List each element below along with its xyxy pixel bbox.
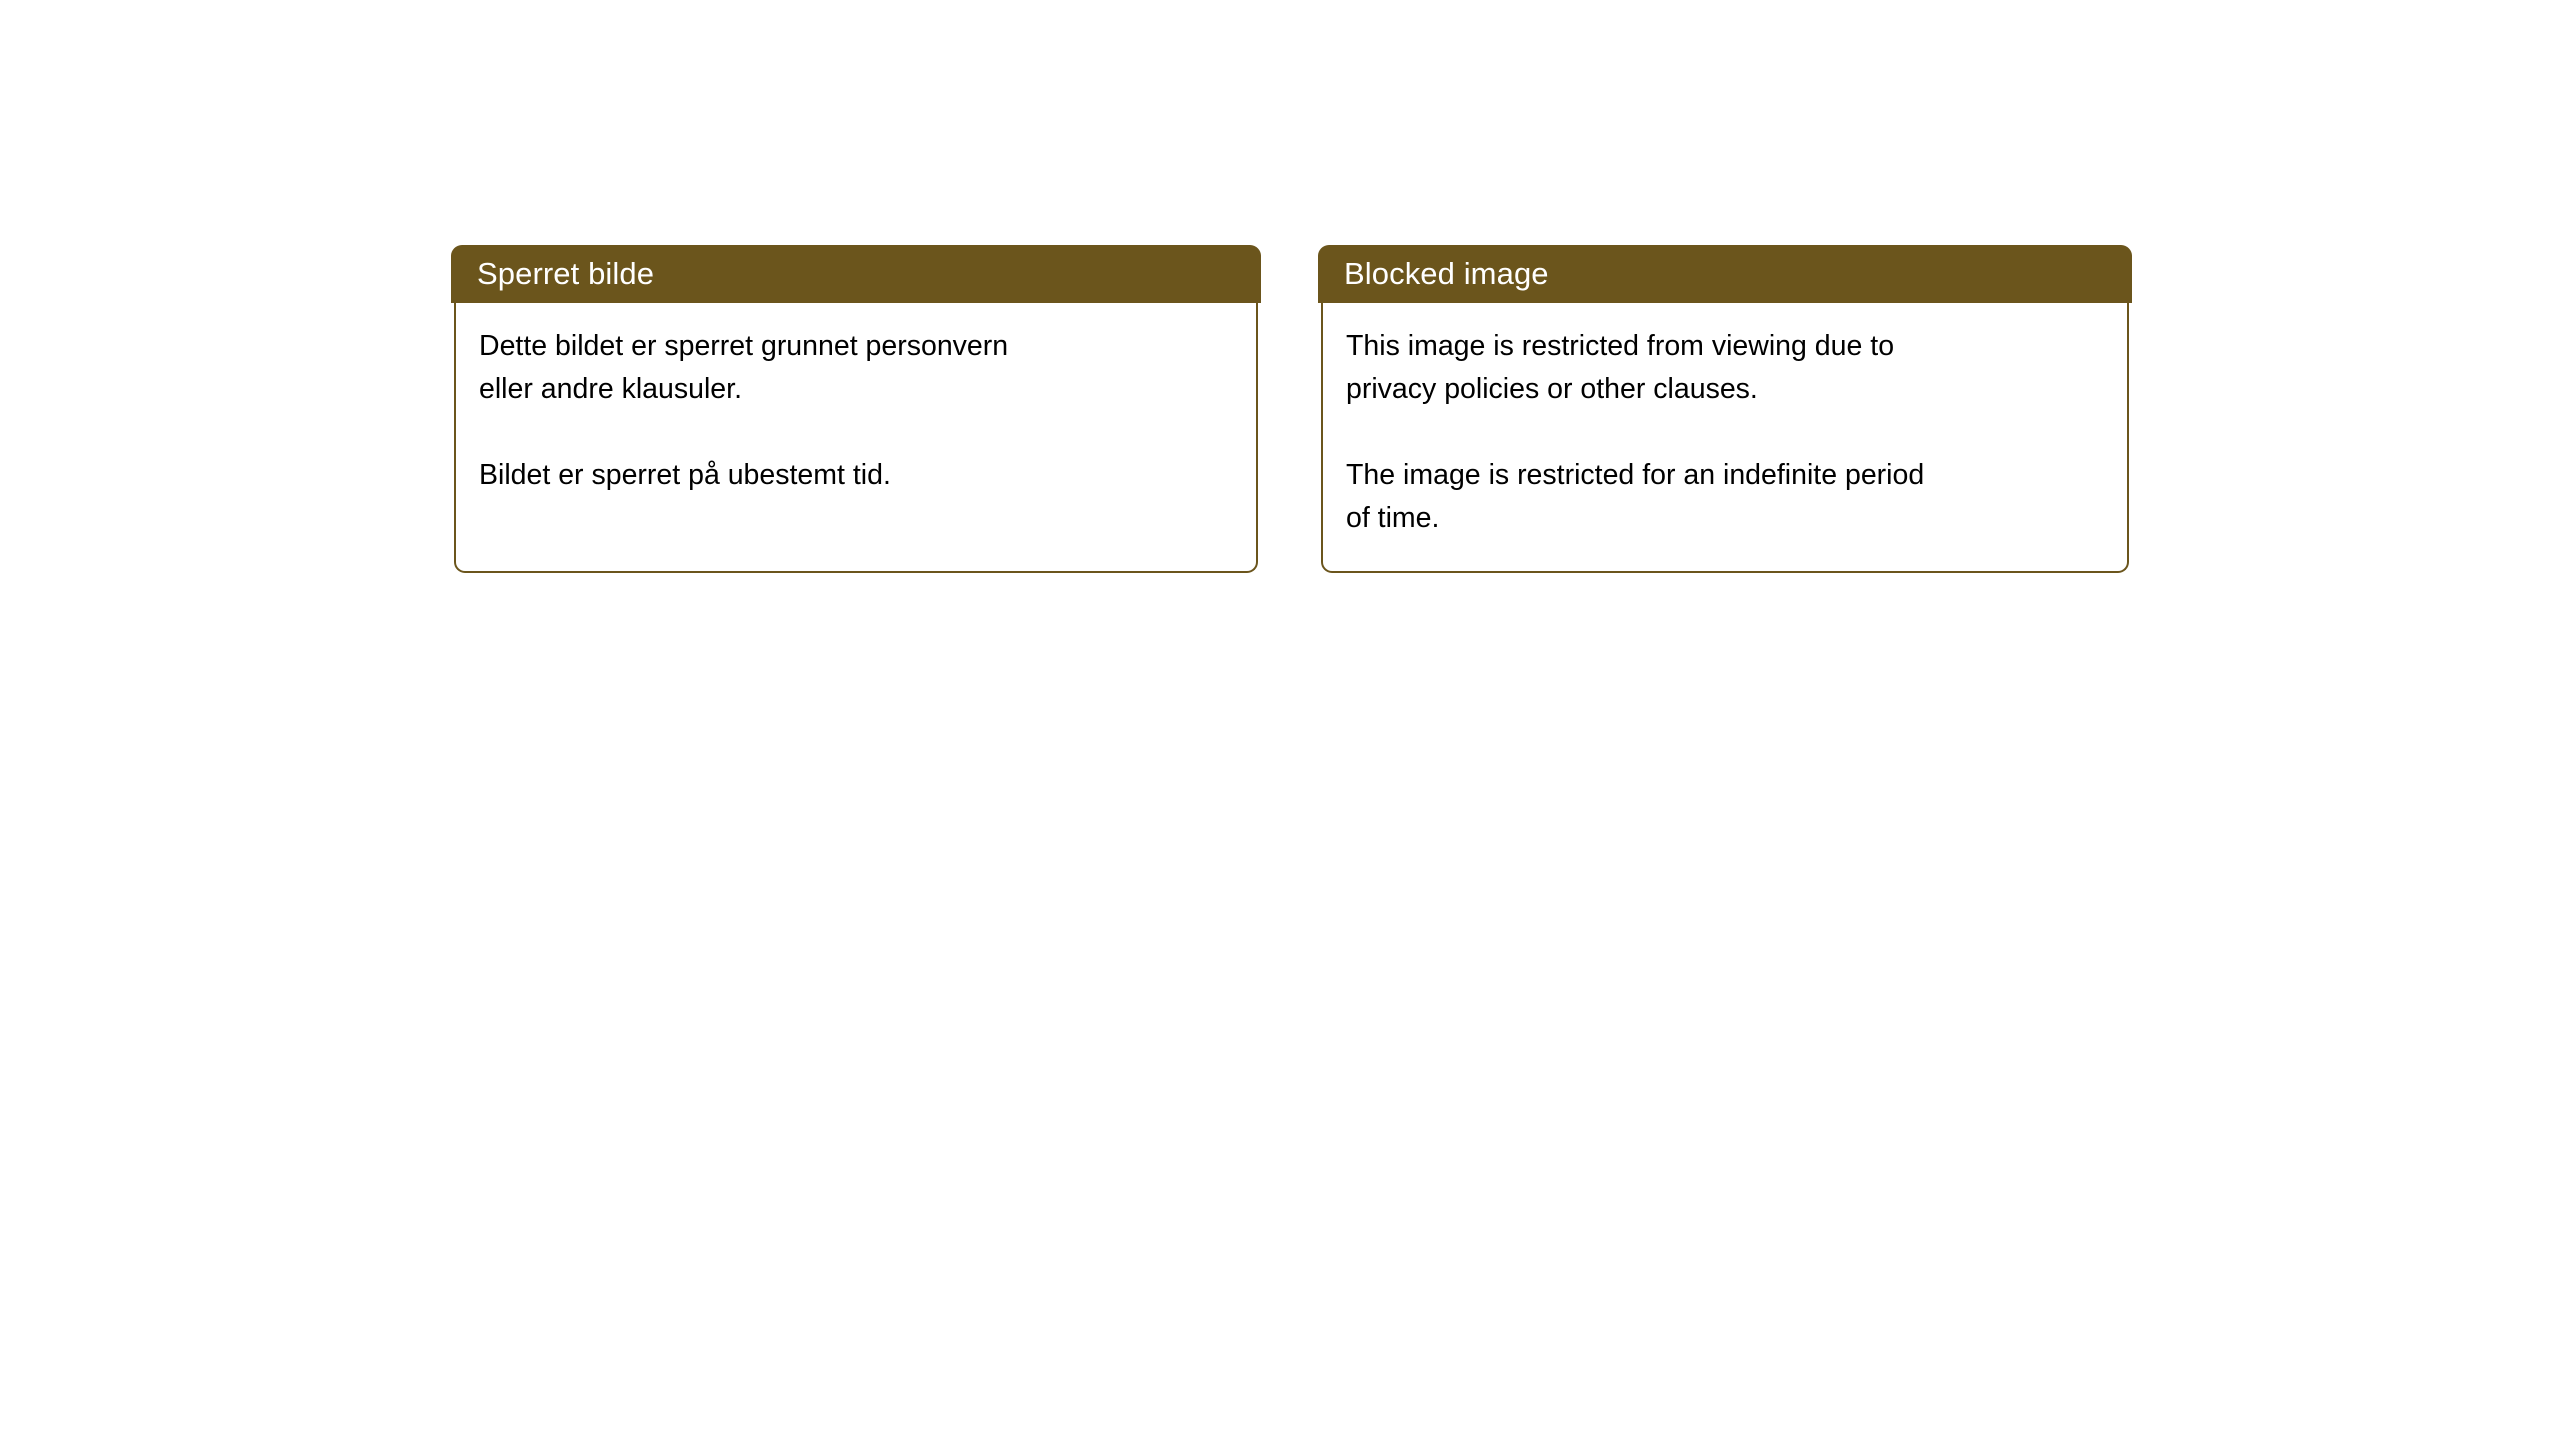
card-header-en: Blocked image (1318, 245, 2132, 303)
card-title-no: Sperret bilde (477, 256, 654, 292)
blocked-image-notice-card-en: Blocked image This image is restricted f… (1318, 245, 2132, 573)
card-paragraph-no-2: Bildet er sperret på ubestemt tid. (479, 454, 1230, 497)
card-paragraph-en-1: This image is restricted from viewing du… (1346, 325, 2101, 411)
card-header-no: Sperret bilde (451, 245, 1261, 303)
page-root: Sperret bilde Dette bildet er sperret gr… (0, 0, 2560, 1440)
blocked-image-notice-card-no: Sperret bilde Dette bildet er sperret gr… (451, 245, 1261, 573)
card-body-no: Dette bildet er sperret grunnet personve… (454, 303, 1258, 573)
card-title-en: Blocked image (1344, 256, 1549, 292)
card-paragraph-no-1: Dette bildet er sperret grunnet personve… (479, 325, 1230, 411)
card-paragraph-en-2: The image is restricted for an indefinit… (1346, 454, 2101, 540)
card-body-en: This image is restricted from viewing du… (1321, 303, 2129, 573)
